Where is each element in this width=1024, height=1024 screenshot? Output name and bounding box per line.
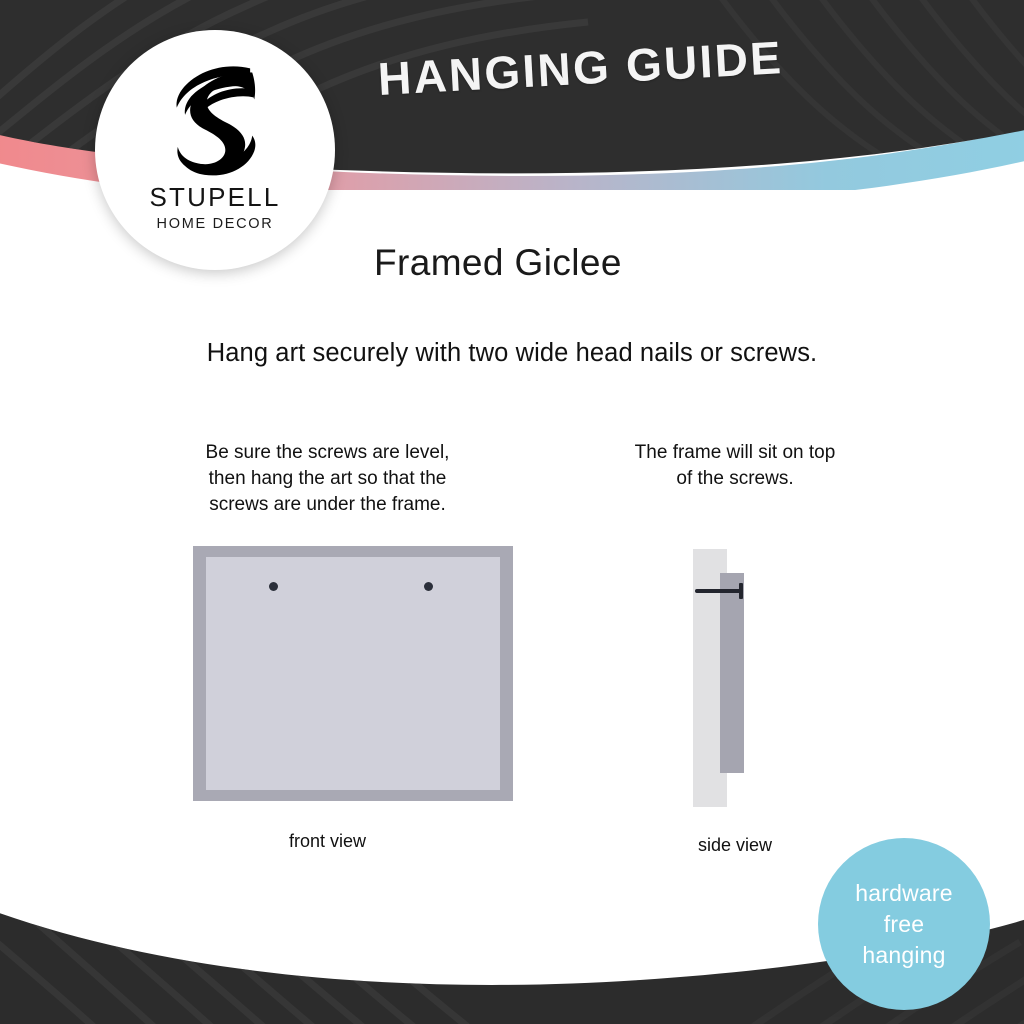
diagram-section: Be sure the screws are level, then hang … [0,440,1024,880]
hardware-free-badge: hardware free hanging [818,838,990,1010]
nail-icon [695,589,743,593]
screw-dot-left [269,582,278,591]
side-view-diagram [675,545,795,810]
side-view-caption: The frame will sit on top of the screws. [600,440,870,492]
front-view-column: Be sure the screws are level, then hang … [140,440,515,852]
lead-instruction: Hang art securely with two wide head nai… [0,339,1024,368]
side-view-column: The frame will sit on top of the screws.… [600,440,870,856]
front-view-caption: Be sure the screws are level, then hang … [140,440,515,518]
screw-dot-right [424,582,433,591]
hanging-guide-page: STUPELL HOME DECOR HANGING GUIDE Framed … [0,0,1024,1024]
brand-logo-badge: STUPELL HOME DECOR [95,30,335,270]
frame-inner-art [206,557,500,790]
side-view-label: side view [600,835,870,856]
stupell-swirl-icon [153,56,277,180]
front-view-diagram [168,546,488,801]
hardware-free-badge-text: hardware free hanging [855,878,953,971]
nail-head-icon [739,583,743,599]
logo-tagline: HOME DECOR [157,216,274,232]
frame-side-strip [720,573,744,773]
logo-brand-name: STUPELL [149,182,280,213]
product-title: Framed Giclee [374,242,622,284]
page-title: HANGING GUIDE [377,30,785,106]
frame-outer-border [193,546,513,801]
front-view-label: front view [140,831,515,852]
